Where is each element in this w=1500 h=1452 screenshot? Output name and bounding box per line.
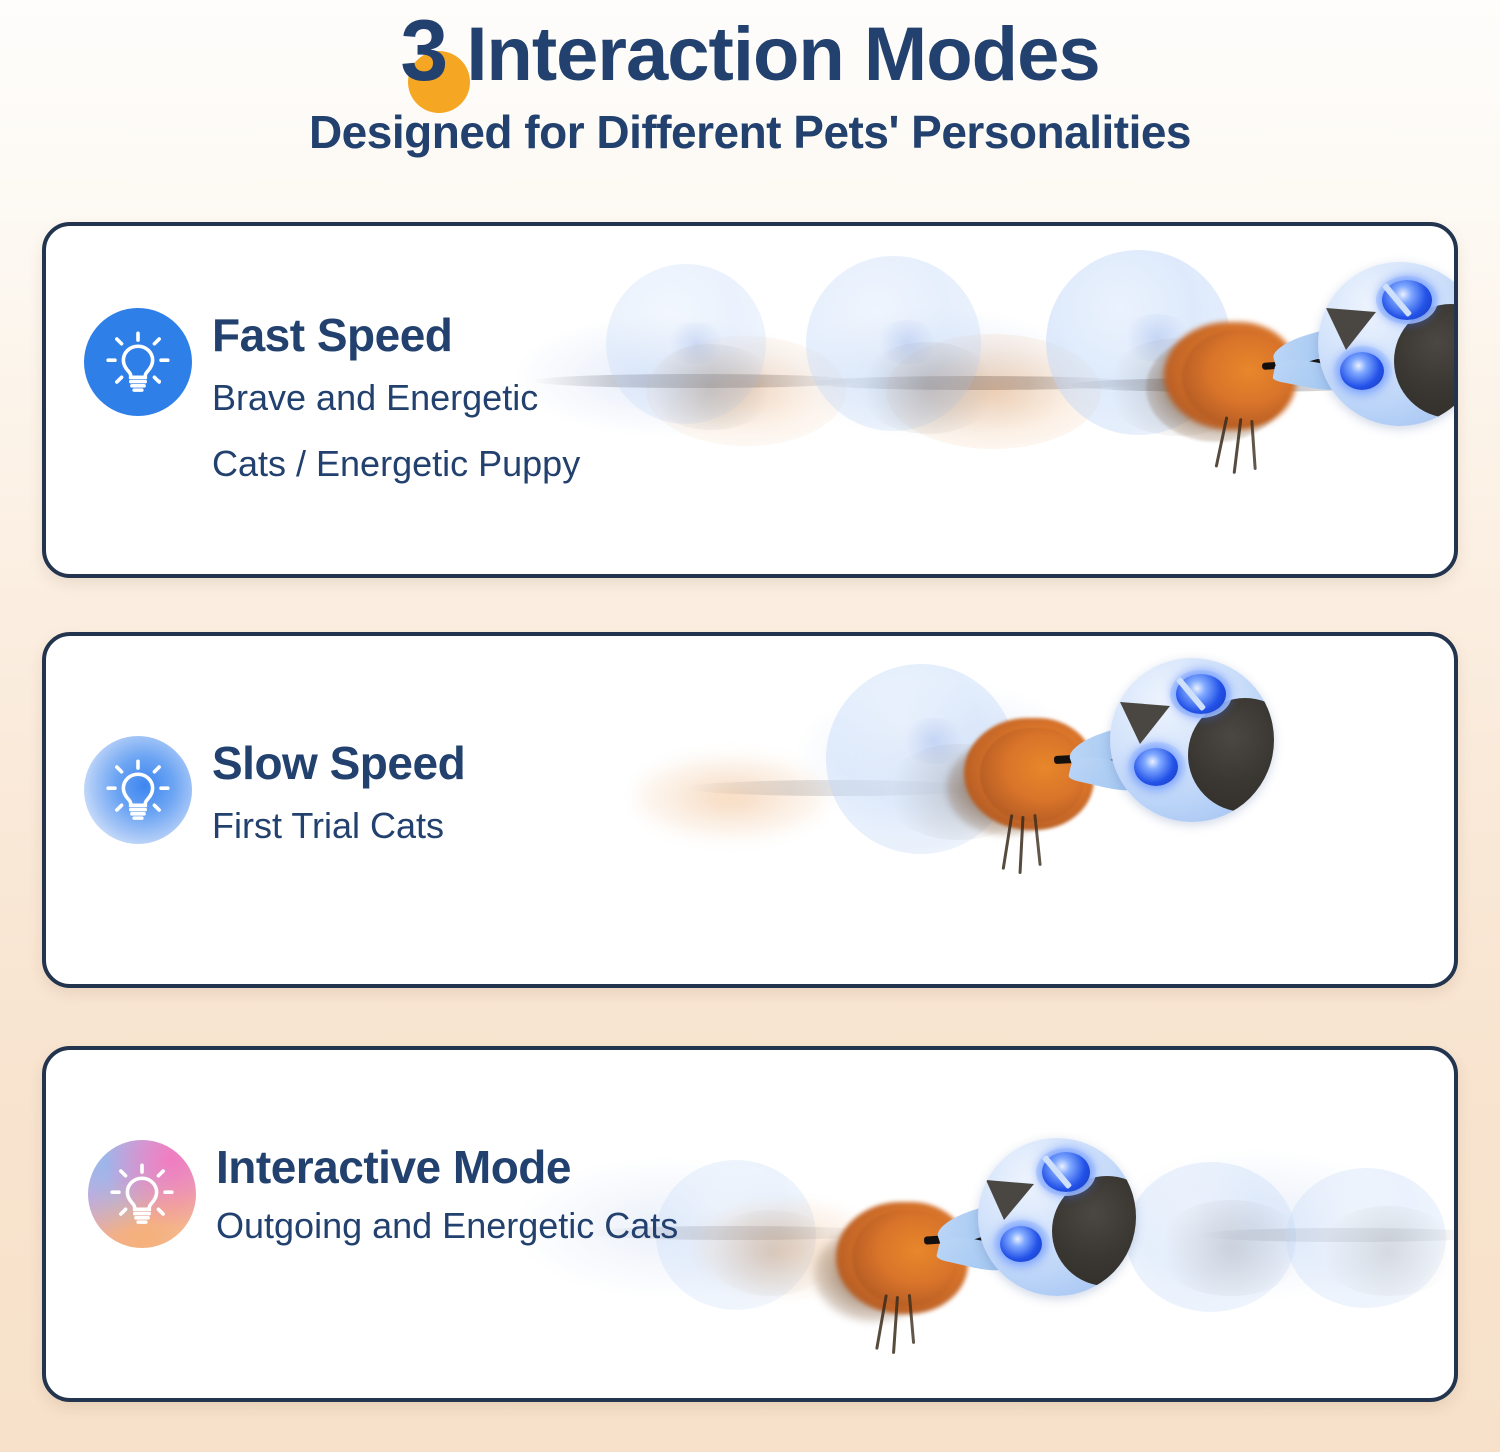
- lightbulb-icon: [84, 308, 192, 416]
- card-info-fast-speed: Fast Speed Brave and Energetic Cats / En…: [84, 308, 580, 490]
- mode-card-list: Fast Speed Brave and Energetic Cats / En…: [0, 0, 1500, 1452]
- card-title: Interactive Mode: [216, 1144, 678, 1190]
- mode-card-slow-speed[interactable]: Slow Speed First Trial Cats: [42, 632, 1458, 988]
- lightbulb-icon: [88, 1140, 196, 1248]
- card-subtitle-line2: Cats / Energetic Puppy: [212, 438, 580, 490]
- card-subtitle-line1: Outgoing and Energetic Cats: [216, 1200, 678, 1252]
- card-info-slow-speed: Slow Speed First Trial Cats: [84, 736, 465, 852]
- lightbulb-icon: [84, 736, 192, 844]
- mode-card-interactive-mode[interactable]: Interactive Mode Outgoing and Energetic …: [42, 1046, 1458, 1402]
- card-info-interactive-mode: Interactive Mode Outgoing and Energetic …: [88, 1140, 678, 1252]
- card-title: Fast Speed: [212, 312, 580, 358]
- header: 3 Interaction Modes Designed for Differe…: [0, 0, 1500, 156]
- page-subtitle: Designed for Different Pets' Personaliti…: [0, 108, 1500, 156]
- title-text: Interaction Modes: [446, 12, 1099, 97]
- mode-card-fast-speed[interactable]: Fast Speed Brave and Energetic Cats / En…: [42, 222, 1458, 578]
- card-subtitle-line1: First Trial Cats: [212, 800, 465, 852]
- card-subtitle-line1: Brave and Energetic: [212, 372, 580, 424]
- page-title: 3 Interaction Modes: [400, 8, 1099, 94]
- title-number: 3: [400, 3, 446, 99]
- card-title: Slow Speed: [212, 740, 465, 786]
